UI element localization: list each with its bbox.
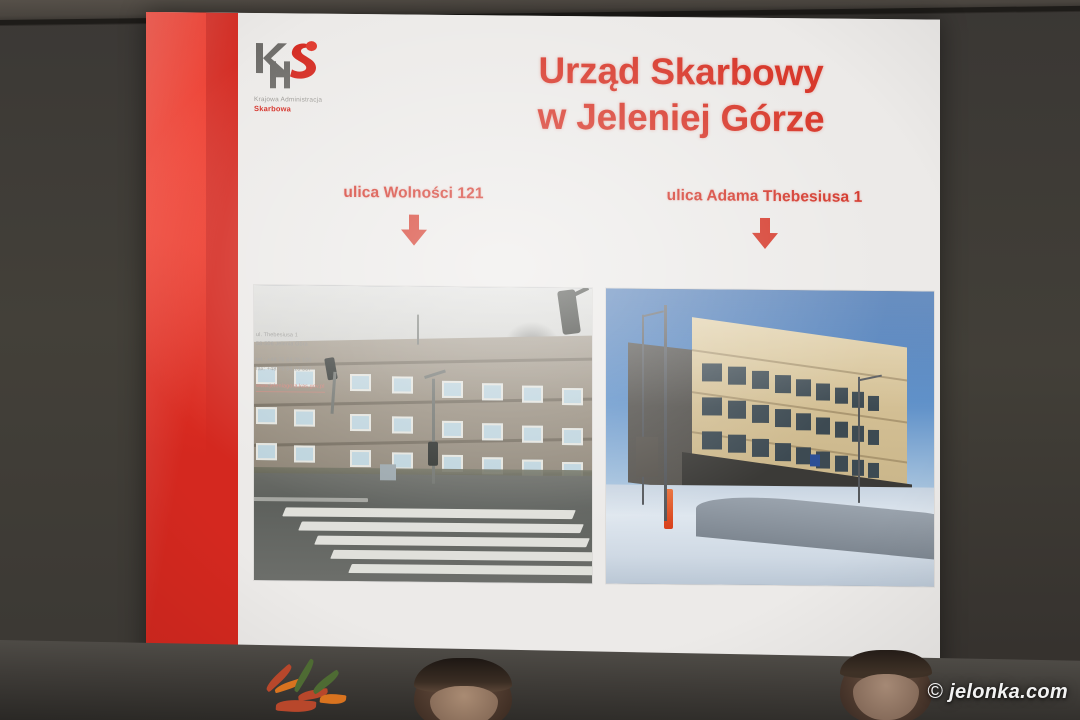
footer-address-line1: ul. Thebesiusa 1: [256, 331, 325, 340]
kas-monogram-icon: [254, 39, 326, 94]
slide-photos: [254, 285, 934, 587]
slide-accent-band: [146, 12, 238, 673]
photo-left-mast: [417, 315, 419, 345]
down-arrow-icon-left: [400, 214, 428, 246]
foreground-plant: [258, 656, 378, 720]
column-right: ulica Adama Thebesiusa 1: [589, 186, 940, 256]
column-left-caption: ulica Wolności 121: [238, 183, 589, 204]
column-left: ulica Wolności 121: [238, 183, 589, 253]
photo-left-pedestrian-signal: [428, 442, 438, 466]
kas-logo-caption-line2: Skarbowa: [254, 104, 404, 114]
slide-title: Urząd Skarbowy w Jeleniej Górze: [446, 47, 916, 144]
photo-right-billboard: [636, 437, 658, 477]
footer-website-link[interactable]: www.jeleniagora.kas.gov.pl: [256, 382, 325, 392]
kas-logo: Krajowa Administracja Skarbowa: [254, 39, 404, 114]
lecture-room-scene: Krajowa Administracja Skarbowa Urząd Ska…: [0, 0, 1080, 720]
slide-title-line2: w Jeleniej Górze: [446, 93, 916, 144]
watermark-text: jelonka.com: [949, 681, 1068, 703]
photo-thebesiusa-building: [606, 288, 934, 586]
footer-address-line2: 58-506 Jelenia Góra: [256, 340, 325, 349]
photo-right-lamp-post-1: [664, 305, 667, 521]
footer-phone: tel.: +48 75 64 25 100: [256, 356, 325, 365]
slide-column-captions: ulica Wolności 121 ulica Adama Thebesius…: [238, 183, 940, 257]
photo-left-lamp-post: [432, 379, 435, 484]
photo-right-road-sign: [810, 454, 820, 466]
slide-title-line1: Urząd Skarbowy: [446, 47, 916, 98]
photo-wolnosci-building: [254, 285, 592, 583]
footer-fax: fax: +48 75 64 13 537: [256, 365, 325, 374]
slide-footer-contact: ul. Thebesiusa 1 58-506 Jelenia Góra tel…: [256, 331, 325, 392]
photo-left-cabinet: [380, 464, 396, 480]
presentation-slide: Krajowa Administracja Skarbowa Urząd Ska…: [146, 12, 940, 680]
down-arrow-icon-right: [751, 218, 779, 250]
kas-logo-mark: [254, 39, 326, 96]
copyright-symbol: ©: [927, 680, 943, 703]
audience-face-left: [430, 686, 498, 720]
column-right-caption: ulica Adama Thebesiusa 1: [589, 186, 940, 207]
watermark: © jelonka.com: [927, 680, 1068, 704]
accent-band-glow: [146, 12, 238, 673]
projection-screen: Krajowa Administracja Skarbowa Urząd Ska…: [146, 12, 940, 680]
photo-right-lamp-post-3: [858, 377, 860, 503]
